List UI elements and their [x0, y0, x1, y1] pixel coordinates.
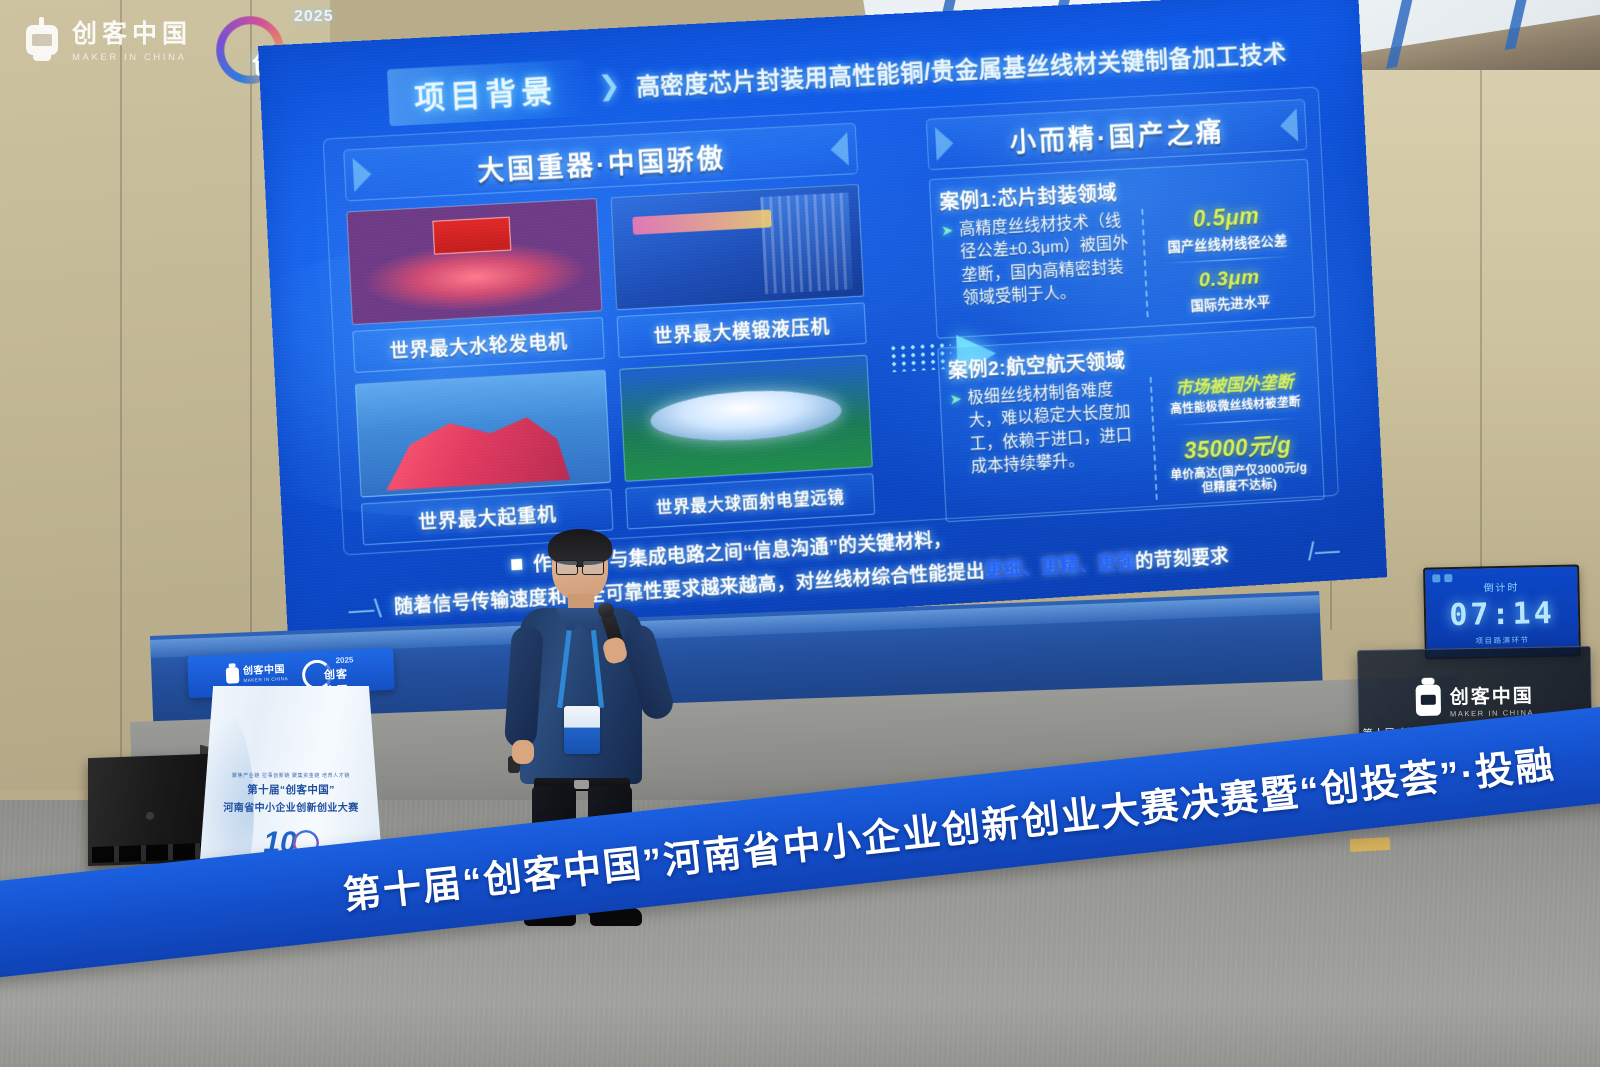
- showcase-caption: 世界最大模锻液压机: [617, 302, 867, 358]
- fast-telescope-photo: [619, 355, 873, 482]
- case-card-1: 案例1:芯片封装领域 ➤ 高精度丝线材技术（线径公差±0.3μm）被国外垄断，国…: [929, 159, 1316, 339]
- forging-press-photo: [611, 184, 865, 310]
- wall-logo-cn: 创客中国: [72, 14, 192, 50]
- chevron-right-icon: [830, 132, 849, 167]
- crane-photo: [355, 370, 611, 498]
- robot-mascot-icon: [24, 17, 60, 61]
- bracket-right-icon: /—: [1307, 535, 1340, 567]
- chevron-right-icon: [1279, 108, 1298, 142]
- countdown-time: 07:14: [1449, 595, 1555, 632]
- podium-text-block: 聚焦产业链 拉事创新链 聚集资金链 培育人才链 第十届“创客中国” 河南省中小企…: [196, 772, 386, 814]
- showcase-grid: 世界最大水轮发电机 世界最大模锻液压机 世界最大起重机: [346, 184, 875, 545]
- footer-line-2b: 的苛刻要求: [1135, 542, 1230, 574]
- bracket-left-icon: —\: [348, 593, 383, 626]
- slide-title-badge: 项目背景: [387, 59, 588, 126]
- showcase-item: 世界最大模锻液压机: [611, 184, 867, 358]
- metric-separator: [1164, 256, 1293, 264]
- metric-separator: [1172, 417, 1301, 426]
- led-presentation-screen: 项目背景 ❯ 高密度芯片封装用高性能铜/贵金属基丝线材关键制备加工技术 大国重器…: [258, 0, 1387, 645]
- left-panel-header-text: 大国重器·中国骄傲: [476, 136, 726, 188]
- footer-line-2-highlight: 更细、更精、更强: [984, 547, 1136, 583]
- podium-line-2: 河南省中小企业创新创业大赛: [196, 799, 386, 814]
- wall-logo: 创客中国 MAKER IN CHINA: [24, 14, 192, 63]
- caption-text: 世界最大起重机: [418, 499, 558, 534]
- podium-emblem-year: 2025: [335, 655, 353, 665]
- case-2-text: 极细丝线材制备难度大，难以稳定大长度加工，依赖于进口，进口成本持续攀升。: [967, 378, 1148, 511]
- pa-speaker-cabinet: [88, 754, 208, 866]
- countdown-footer: 项目路演环节: [1475, 634, 1529, 646]
- showcase-item: 世界最大起重机: [355, 370, 613, 546]
- name-badge: [564, 706, 600, 754]
- case-card-2: 案例2:航空航天领域 ➤ 极细丝线材制备难度大，难以稳定大长度加工，依赖于进口，…: [937, 326, 1324, 522]
- robot-mascot-icon: [1416, 685, 1442, 716]
- showcase-caption: 世界最大水轮发电机: [352, 317, 605, 373]
- case-1-metric-2-value: 0.3μm: [1198, 266, 1260, 293]
- caption-text: 世界最大模锻液压机: [653, 312, 831, 349]
- wall-logo-en: MAKER IN CHINA: [72, 52, 192, 63]
- case-1-metric-1-label: 国产丝线材线径公差: [1167, 230, 1288, 256]
- left-panel: 大国重器·中国骄傲 世界最大水轮发电机 世界最大模锻液压机: [343, 123, 876, 567]
- podium-logo-en: MAKER IN CHINA: [243, 676, 288, 683]
- case-1-metric-1-value: 0.5μm: [1192, 203, 1260, 233]
- robot-mascot-icon: [226, 667, 240, 684]
- hydro-generator-photo: [346, 198, 602, 325]
- dashed-divider: [1141, 209, 1148, 317]
- chevron-left-icon: [353, 157, 373, 192]
- eyeglasses-icon: [556, 560, 604, 573]
- caption-text: 世界最大水轮发电机: [389, 327, 569, 364]
- podium-line-1: 第十届“创客中国”: [196, 782, 386, 797]
- bullet-arrow-icon: ➤: [949, 388, 967, 512]
- lanyard: [562, 630, 600, 704]
- right-panel-header-text: 小而精·国产之痛: [1009, 110, 1226, 160]
- podium-tagline: 聚焦产业链 拉事创新链 聚集资金链 培育人才链: [196, 772, 386, 779]
- podium-logo: 创客中国 MAKER IN CHINA: [226, 665, 288, 684]
- showcase-caption: 世界最大球面射电望远镜: [625, 473, 875, 529]
- title-chevron-icon: ❯: [597, 70, 621, 102]
- conference-hall-scene: 创客中国 MAKER IN CHINA 2025 创客中国 项目背景 ❯ 高密度…: [0, 0, 1600, 1067]
- countdown-monitor: 倒计时 07:14 项目路演环节: [1423, 564, 1581, 659]
- podium-emblem: 2025 创客中国: [301, 657, 356, 685]
- case-2-metric-2-value: 35000元/g: [1183, 426, 1292, 466]
- case-1-metric-2-label: 国际先进水平: [1190, 291, 1271, 315]
- bullet-arrow-icon: ➤: [941, 219, 959, 328]
- countdown-label: 倒计时: [1483, 578, 1519, 594]
- standee-logo-cn: 创客中国: [1449, 680, 1534, 708]
- dashed-divider: [1149, 377, 1157, 500]
- case-1-text: 高精度丝线材技术（线径公差±0.3μm）被国外垄断，国内高精密封装领域受制于人。: [959, 210, 1139, 328]
- caption-text: 世界最大球面射电望远镜: [655, 484, 845, 519]
- case-2-metric-2-label: 单价高达(国产仅3000元/g 但精度不达标): [1164, 460, 1315, 499]
- presenter-hand-left: [512, 740, 534, 764]
- showcase-item: 世界最大水轮发电机: [346, 198, 605, 373]
- right-panel: 小而精·国产之痛 案例1:芯片封装领域 ➤ 高精度丝线材技术（线径公差±0.3μ…: [926, 99, 1325, 531]
- showcase-item: 世界最大球面射电望远镜: [619, 355, 875, 530]
- monitor-status-icons: [1432, 574, 1452, 582]
- chevron-left-icon: [935, 126, 954, 160]
- emblem-year: 2025: [294, 8, 334, 26]
